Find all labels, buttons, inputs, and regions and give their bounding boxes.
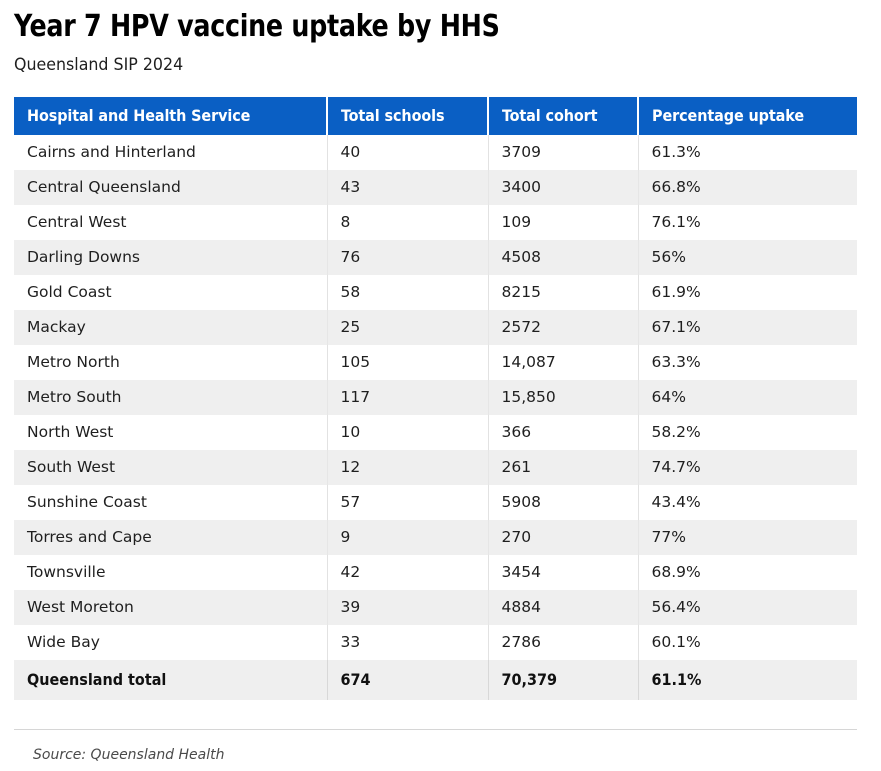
table-total-row: Queensland total67470,37961.1% [14, 660, 857, 700]
cell-percentage-uptake: 66.8% [638, 170, 857, 205]
cell-total-cohort: 2572 [488, 310, 638, 345]
total-cell-total-schools: 674 [327, 660, 488, 700]
table-row: North West1036658.2% [14, 415, 857, 450]
table-body: Cairns and Hinterland40370961.3%Central … [14, 135, 857, 700]
cell-total-cohort: 4508 [488, 240, 638, 275]
table-row: West Moreton39488456.4% [14, 590, 857, 625]
cell-percentage-uptake: 61.3% [638, 135, 857, 170]
cell-total-cohort: 3454 [488, 555, 638, 590]
cell-total-schools: 8 [327, 205, 488, 240]
cell-hhs: West Moreton [14, 590, 327, 625]
column-header-schools: Total schools [327, 97, 488, 135]
cell-total-cohort: 3709 [488, 135, 638, 170]
cell-percentage-uptake: 56.4% [638, 590, 857, 625]
source-note: Source: Queensland Health [14, 730, 867, 763]
cell-percentage-uptake: 74.7% [638, 450, 857, 485]
cell-total-schools: 76 [327, 240, 488, 275]
cell-total-schools: 12 [327, 450, 488, 485]
table-row: Central West810976.1% [14, 205, 857, 240]
cell-percentage-uptake: 58.2% [638, 415, 857, 450]
cell-total-cohort: 261 [488, 450, 638, 485]
page-title: Year 7 HPV vaccine uptake by HHS [14, 0, 816, 44]
cell-percentage-uptake: 77% [638, 520, 857, 555]
cell-hhs: Sunshine Coast [14, 485, 327, 520]
cell-hhs: Mackay [14, 310, 327, 345]
cell-total-cohort: 14,087 [488, 345, 638, 380]
table-row: Darling Downs76450856% [14, 240, 857, 275]
infographic-page: Year 7 HPV vaccine uptake by HHS Queensl… [0, 0, 881, 771]
cell-total-cohort: 270 [488, 520, 638, 555]
cell-hhs: Central Queensland [14, 170, 327, 205]
cell-total-cohort: 2786 [488, 625, 638, 660]
cell-total-schools: 43 [327, 170, 488, 205]
cell-total-schools: 105 [327, 345, 488, 380]
cell-total-schools: 57 [327, 485, 488, 520]
cell-total-schools: 42 [327, 555, 488, 590]
table-row: Gold Coast58821561.9% [14, 275, 857, 310]
cell-total-schools: 33 [327, 625, 488, 660]
cell-hhs: Metro South [14, 380, 327, 415]
total-cell-percentage-uptake: 61.1% [638, 660, 857, 700]
table-row: Townsville42345468.9% [14, 555, 857, 590]
cell-percentage-uptake: 64% [638, 380, 857, 415]
cell-total-schools: 25 [327, 310, 488, 345]
column-header-percentage: Percentage uptake [638, 97, 857, 135]
cell-percentage-uptake: 76.1% [638, 205, 857, 240]
cell-hhs: Cairns and Hinterland [14, 135, 327, 170]
table-row: Sunshine Coast57590843.4% [14, 485, 857, 520]
column-header-hhs: Hospital and Health Service [14, 97, 327, 135]
cell-percentage-uptake: 67.1% [638, 310, 857, 345]
cell-percentage-uptake: 63.3% [638, 345, 857, 380]
cell-hhs: North West [14, 415, 327, 450]
cell-percentage-uptake: 61.9% [638, 275, 857, 310]
table-row: Torres and Cape927077% [14, 520, 857, 555]
cell-percentage-uptake: 43.4% [638, 485, 857, 520]
cell-total-schools: 39 [327, 590, 488, 625]
cell-total-cohort: 109 [488, 205, 638, 240]
table-row: Metro North10514,08763.3% [14, 345, 857, 380]
cell-total-cohort: 8215 [488, 275, 638, 310]
table-row: Metro South11715,85064% [14, 380, 857, 415]
cell-total-cohort: 366 [488, 415, 638, 450]
total-cell-total-cohort: 70,379 [488, 660, 638, 700]
cell-percentage-uptake: 60.1% [638, 625, 857, 660]
cell-total-schools: 9 [327, 520, 488, 555]
cell-hhs: Metro North [14, 345, 327, 380]
cell-hhs: Central West [14, 205, 327, 240]
cell-total-schools: 10 [327, 415, 488, 450]
cell-hhs: South West [14, 450, 327, 485]
cell-percentage-uptake: 68.9% [638, 555, 857, 590]
table-row: South West1226174.7% [14, 450, 857, 485]
table-row: Central Queensland43340066.8% [14, 170, 857, 205]
cell-percentage-uptake: 56% [638, 240, 857, 275]
cell-total-schools: 58 [327, 275, 488, 310]
cell-hhs: Townsville [14, 555, 327, 590]
cell-total-schools: 40 [327, 135, 488, 170]
table-container: Hospital and Health Service Total school… [14, 97, 867, 700]
page-subtitle: Queensland SIP 2024 [14, 44, 833, 75]
cell-hhs: Gold Coast [14, 275, 327, 310]
cell-total-cohort: 15,850 [488, 380, 638, 415]
cell-hhs: Torres and Cape [14, 520, 327, 555]
cell-total-cohort: 3400 [488, 170, 638, 205]
total-cell-hhs: Queensland total [14, 660, 327, 700]
table-header-row: Hospital and Health Service Total school… [14, 97, 857, 135]
table-row: Cairns and Hinterland40370961.3% [14, 135, 857, 170]
table-row: Wide Bay33278660.1% [14, 625, 857, 660]
cell-total-cohort: 4884 [488, 590, 638, 625]
cell-total-schools: 117 [327, 380, 488, 415]
table-row: Mackay25257267.1% [14, 310, 857, 345]
cell-hhs: Wide Bay [14, 625, 327, 660]
hpv-uptake-table: Hospital and Health Service Total school… [14, 97, 857, 700]
cell-hhs: Darling Downs [14, 240, 327, 275]
column-header-cohort: Total cohort [488, 97, 638, 135]
table-header: Hospital and Health Service Total school… [14, 97, 857, 135]
cell-total-cohort: 5908 [488, 485, 638, 520]
